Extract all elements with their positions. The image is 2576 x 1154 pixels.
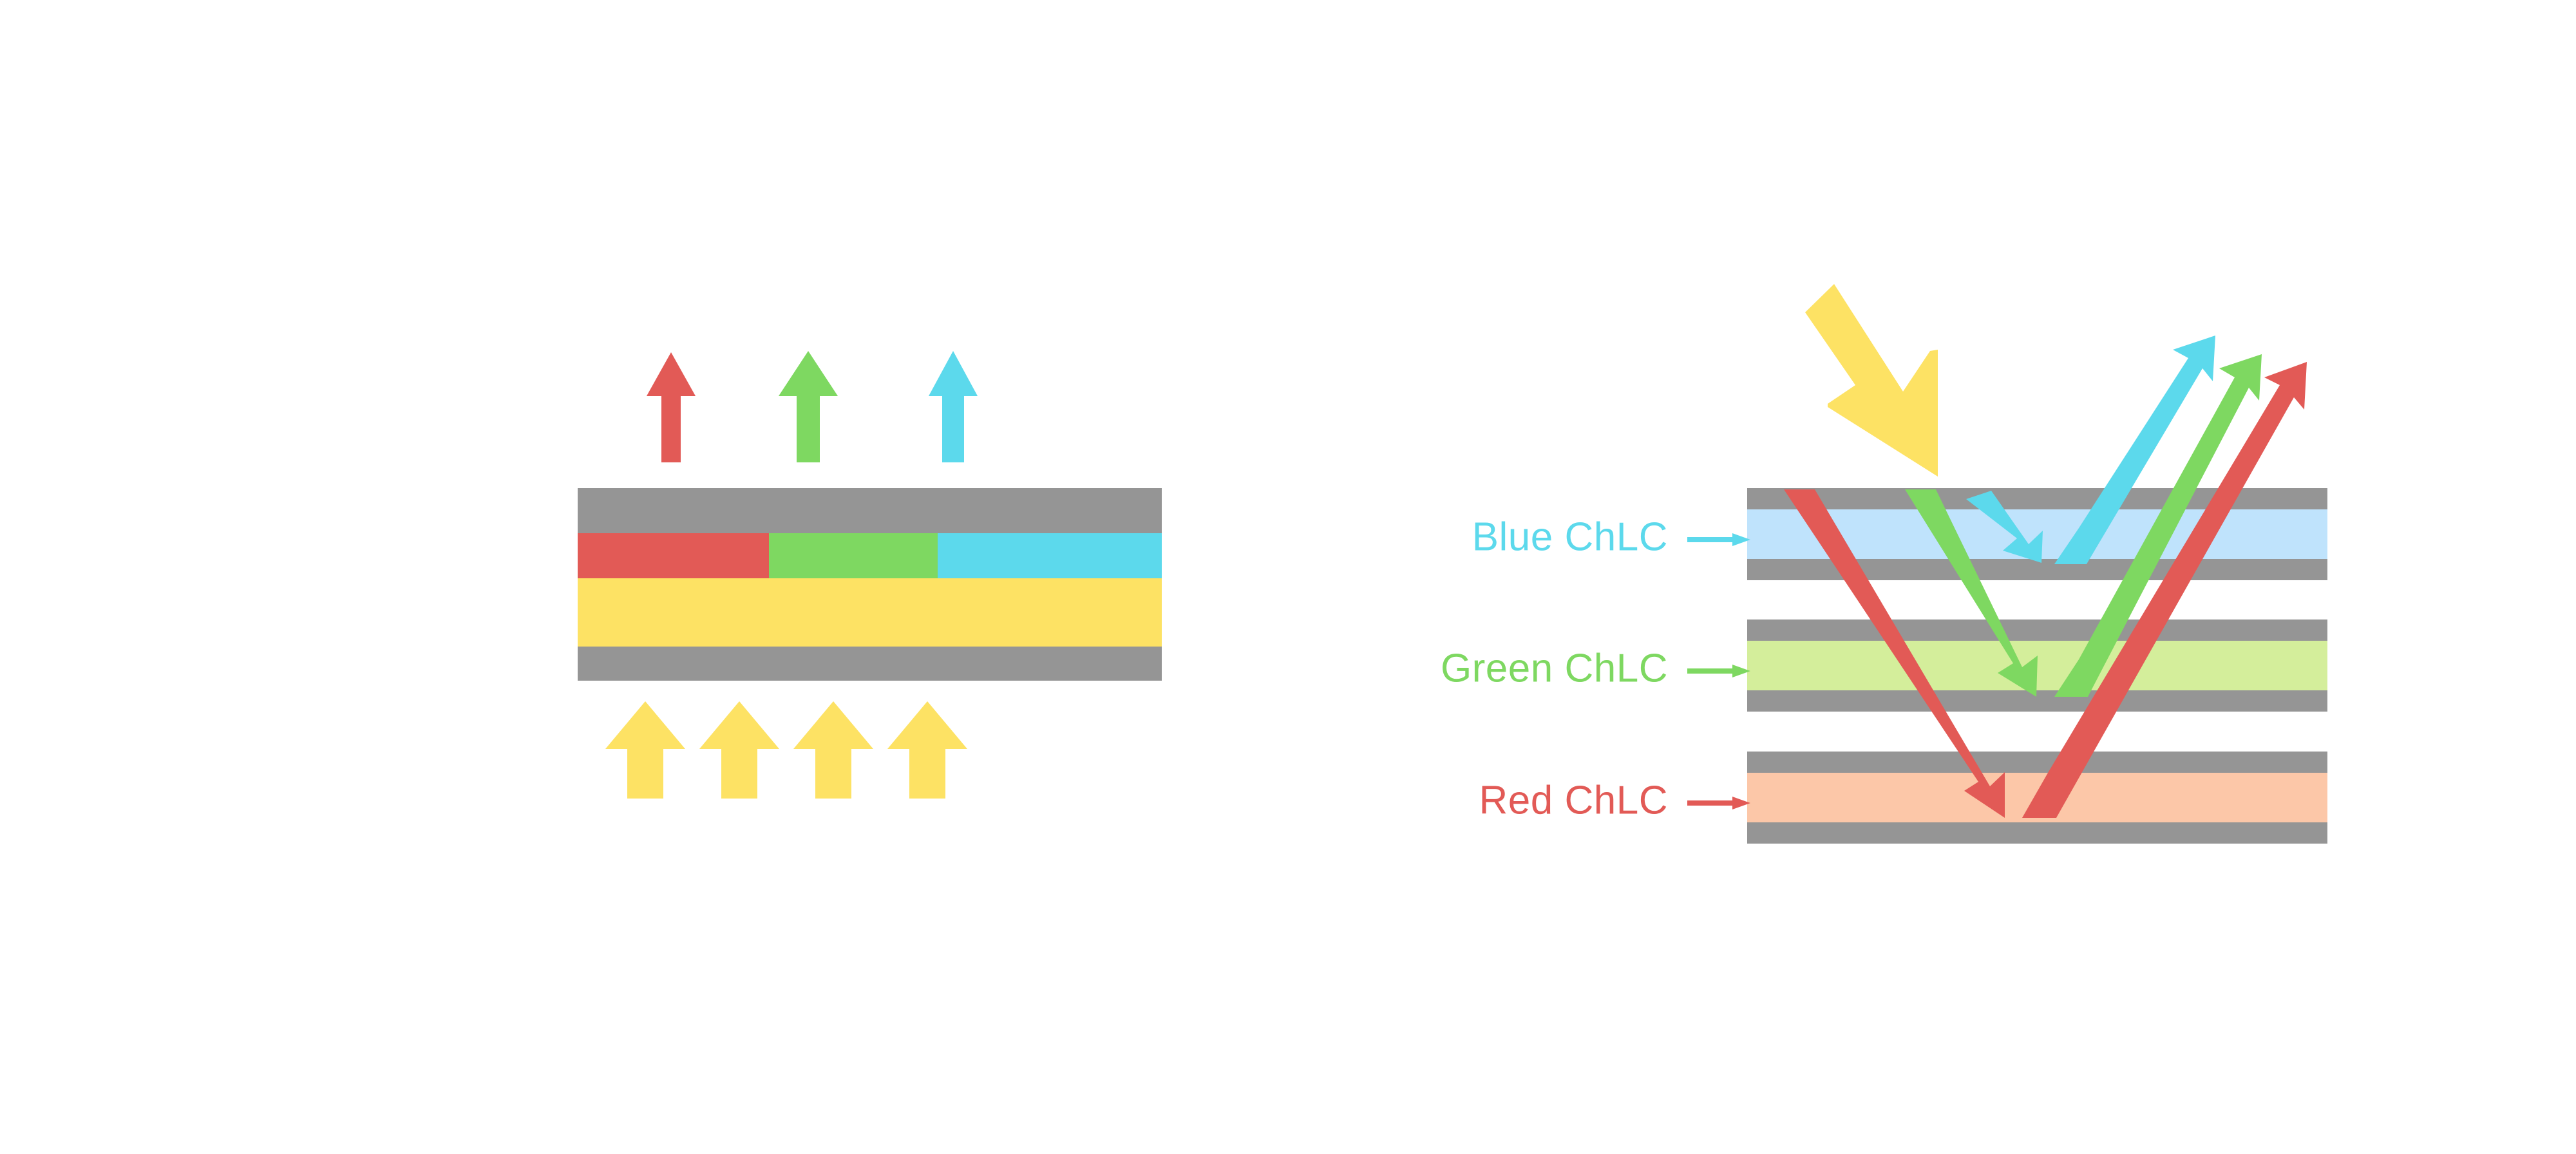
green-chlc-label: Green ChLC	[1441, 646, 1668, 690]
layer-color-filter-blue	[938, 533, 1162, 578]
figure-root: Blue ChLC Green ChLC Red ChLC	[0, 0, 2576, 1154]
layer-backlight	[578, 578, 1162, 647]
emissive-layer-stack	[578, 488, 1162, 681]
layer-color-filter-red	[578, 533, 769, 578]
chlc-diagram-svg: Blue ChLC Green ChLC Red ChLC	[0, 0, 2576, 1154]
layer-top-electrode	[578, 488, 1162, 533]
layer-color-filter-green	[769, 533, 938, 578]
red-chlc-label: Red ChLC	[1479, 778, 1668, 822]
layer-bottom-electrode	[578, 647, 1162, 681]
green-cell-top-substrate	[1747, 620, 2327, 641]
red-cell-bottom-substrate	[1747, 822, 2327, 844]
red-cell-top-substrate	[1747, 752, 2327, 773]
green-cell-bottom-substrate	[1747, 690, 2327, 712]
blue-chlc-label: Blue ChLC	[1472, 515, 1668, 559]
